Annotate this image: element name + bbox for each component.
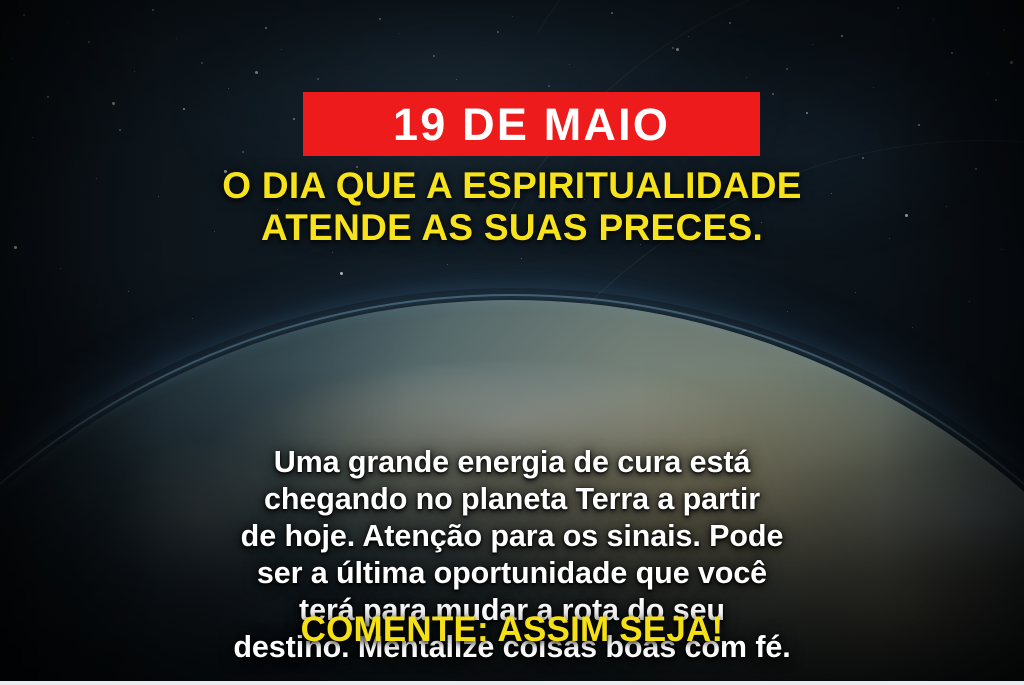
poster-content: 19 DE MAIO O DIA QUE A ESPIRITUALIDADE A… [0,0,1024,685]
body-line-3: de hoje. Atenção para os sinais. Pode [0,518,1024,555]
bottom-edge-strip [0,681,1024,685]
date-banner: 19 DE MAIO [303,92,760,156]
body-line-1: Uma grande energia de cura está [0,444,1024,481]
headline-line-2: ATENDE AS SUAS PRECES. [0,207,1024,249]
poster-canvas: 19 DE MAIO O DIA QUE A ESPIRITUALIDADE A… [0,0,1024,685]
body-line-2: chegando no planeta Terra a partir [0,481,1024,518]
body-line-4: ser a última oportunidade que você [0,555,1024,592]
headline: O DIA QUE A ESPIRITUALIDADE ATENDE AS SU… [0,165,1024,249]
date-banner-text: 19 DE MAIO [393,102,670,147]
call-to-action-text: COMENTE: ASSIM SEJA! [0,612,1024,647]
headline-line-1: O DIA QUE A ESPIRITUALIDADE [0,165,1024,207]
